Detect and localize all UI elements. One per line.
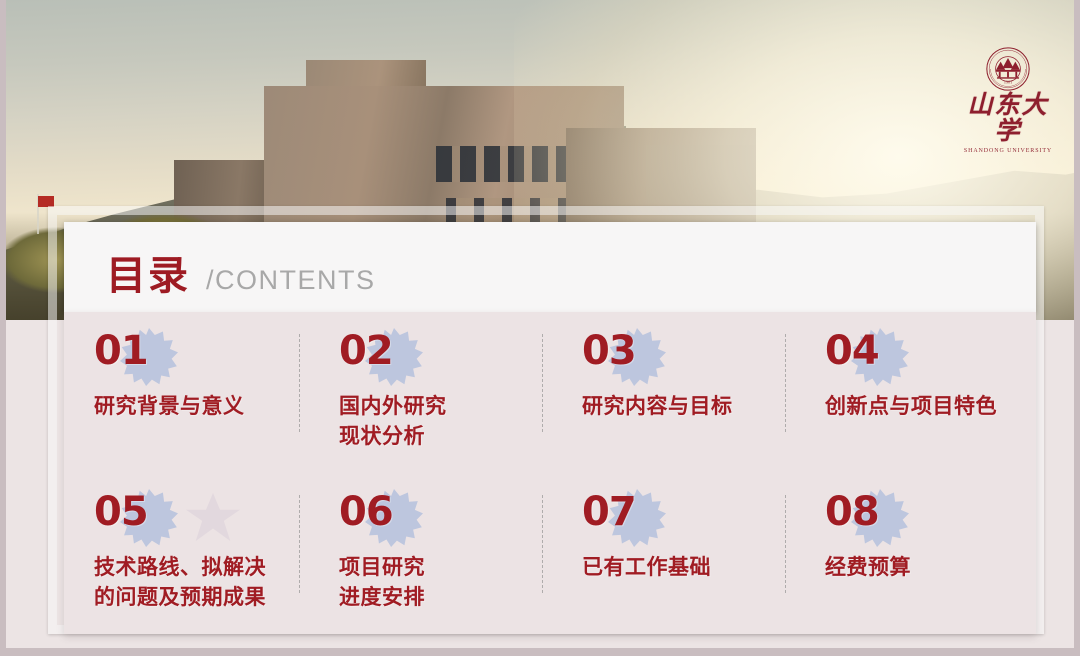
contents-item-04[interactable]: 04 创新点与项目特色 — [793, 312, 1036, 473]
item-label: 研究背景与意义 — [94, 392, 287, 422]
logo-name-cn: 山东大学 — [960, 93, 1056, 146]
contents-item-01[interactable]: 01 研究背景与意义 — [64, 312, 307, 473]
svg-text:1901: 1901 — [1004, 80, 1012, 85]
item-label: 国内外研究 现状分析 — [339, 392, 530, 452]
item-label: 项目研究 进度安排 — [339, 553, 530, 613]
item-number-badge-06: 06 — [339, 491, 530, 547]
item-label: 已有工作基础 — [582, 553, 773, 583]
contents-item-06[interactable]: 06 项目研究 进度安排 — [307, 473, 550, 634]
shandong-university-crest-icon: 1901 — [985, 46, 1031, 92]
presentation-slide: 1901 山东大学 SHANDONG UNIVERSITY 目录 /CONTEN… — [6, 0, 1074, 648]
item-number: 03 — [582, 330, 636, 372]
item-number-badge-07: 07 — [582, 491, 773, 547]
item-number: 04 — [825, 330, 879, 372]
contents-item-02[interactable]: 02 国内外研究 现状分析 — [307, 312, 550, 473]
item-label: 经费预算 — [825, 553, 1016, 583]
item-number-badge-02: 02 — [339, 330, 530, 386]
item-number: 07 — [582, 491, 636, 533]
item-number: 08 — [825, 491, 879, 533]
logo-name-en: SHANDONG UNIVERSITY — [960, 148, 1056, 154]
item-number: 01 — [94, 330, 148, 372]
item-number-badge-04: 04 — [825, 330, 1016, 386]
item-number: 06 — [339, 491, 393, 533]
item-label: 技术路线、拟解决 的问题及预期成果 — [94, 553, 287, 613]
university-logo: 1901 山东大学 SHANDONG UNIVERSITY — [960, 46, 1056, 154]
item-label: 创新点与项目特色 — [825, 392, 1016, 422]
item-number: 05 — [94, 491, 148, 533]
contents-grid: 01 研究背景与意义 02 国内外研究 现状分析 03 研究内容与目标 04 创… — [64, 312, 1036, 634]
item-number-badge-01: 01 — [94, 330, 287, 386]
contents-item-08[interactable]: 08 经费预算 — [793, 473, 1036, 634]
contents-item-05[interactable]: 05 技术路线、拟解决 的问题及预期成果 — [64, 473, 307, 634]
item-number-badge-05: 05 — [94, 491, 287, 547]
contents-item-03[interactable]: 03 研究内容与目标 — [550, 312, 793, 473]
page-title: 目录 — [106, 256, 190, 296]
item-number: 02 — [339, 330, 393, 372]
contents-item-07[interactable]: 07 已有工作基础 — [550, 473, 793, 634]
star-accent-icon — [186, 493, 240, 541]
page-title-en: /CONTENTS — [206, 267, 376, 294]
item-number-badge-03: 03 — [582, 330, 773, 386]
item-number-badge-08: 08 — [825, 491, 1016, 547]
title-card: 目录 /CONTENTS — [64, 222, 1036, 312]
item-label: 研究内容与目标 — [582, 392, 773, 422]
